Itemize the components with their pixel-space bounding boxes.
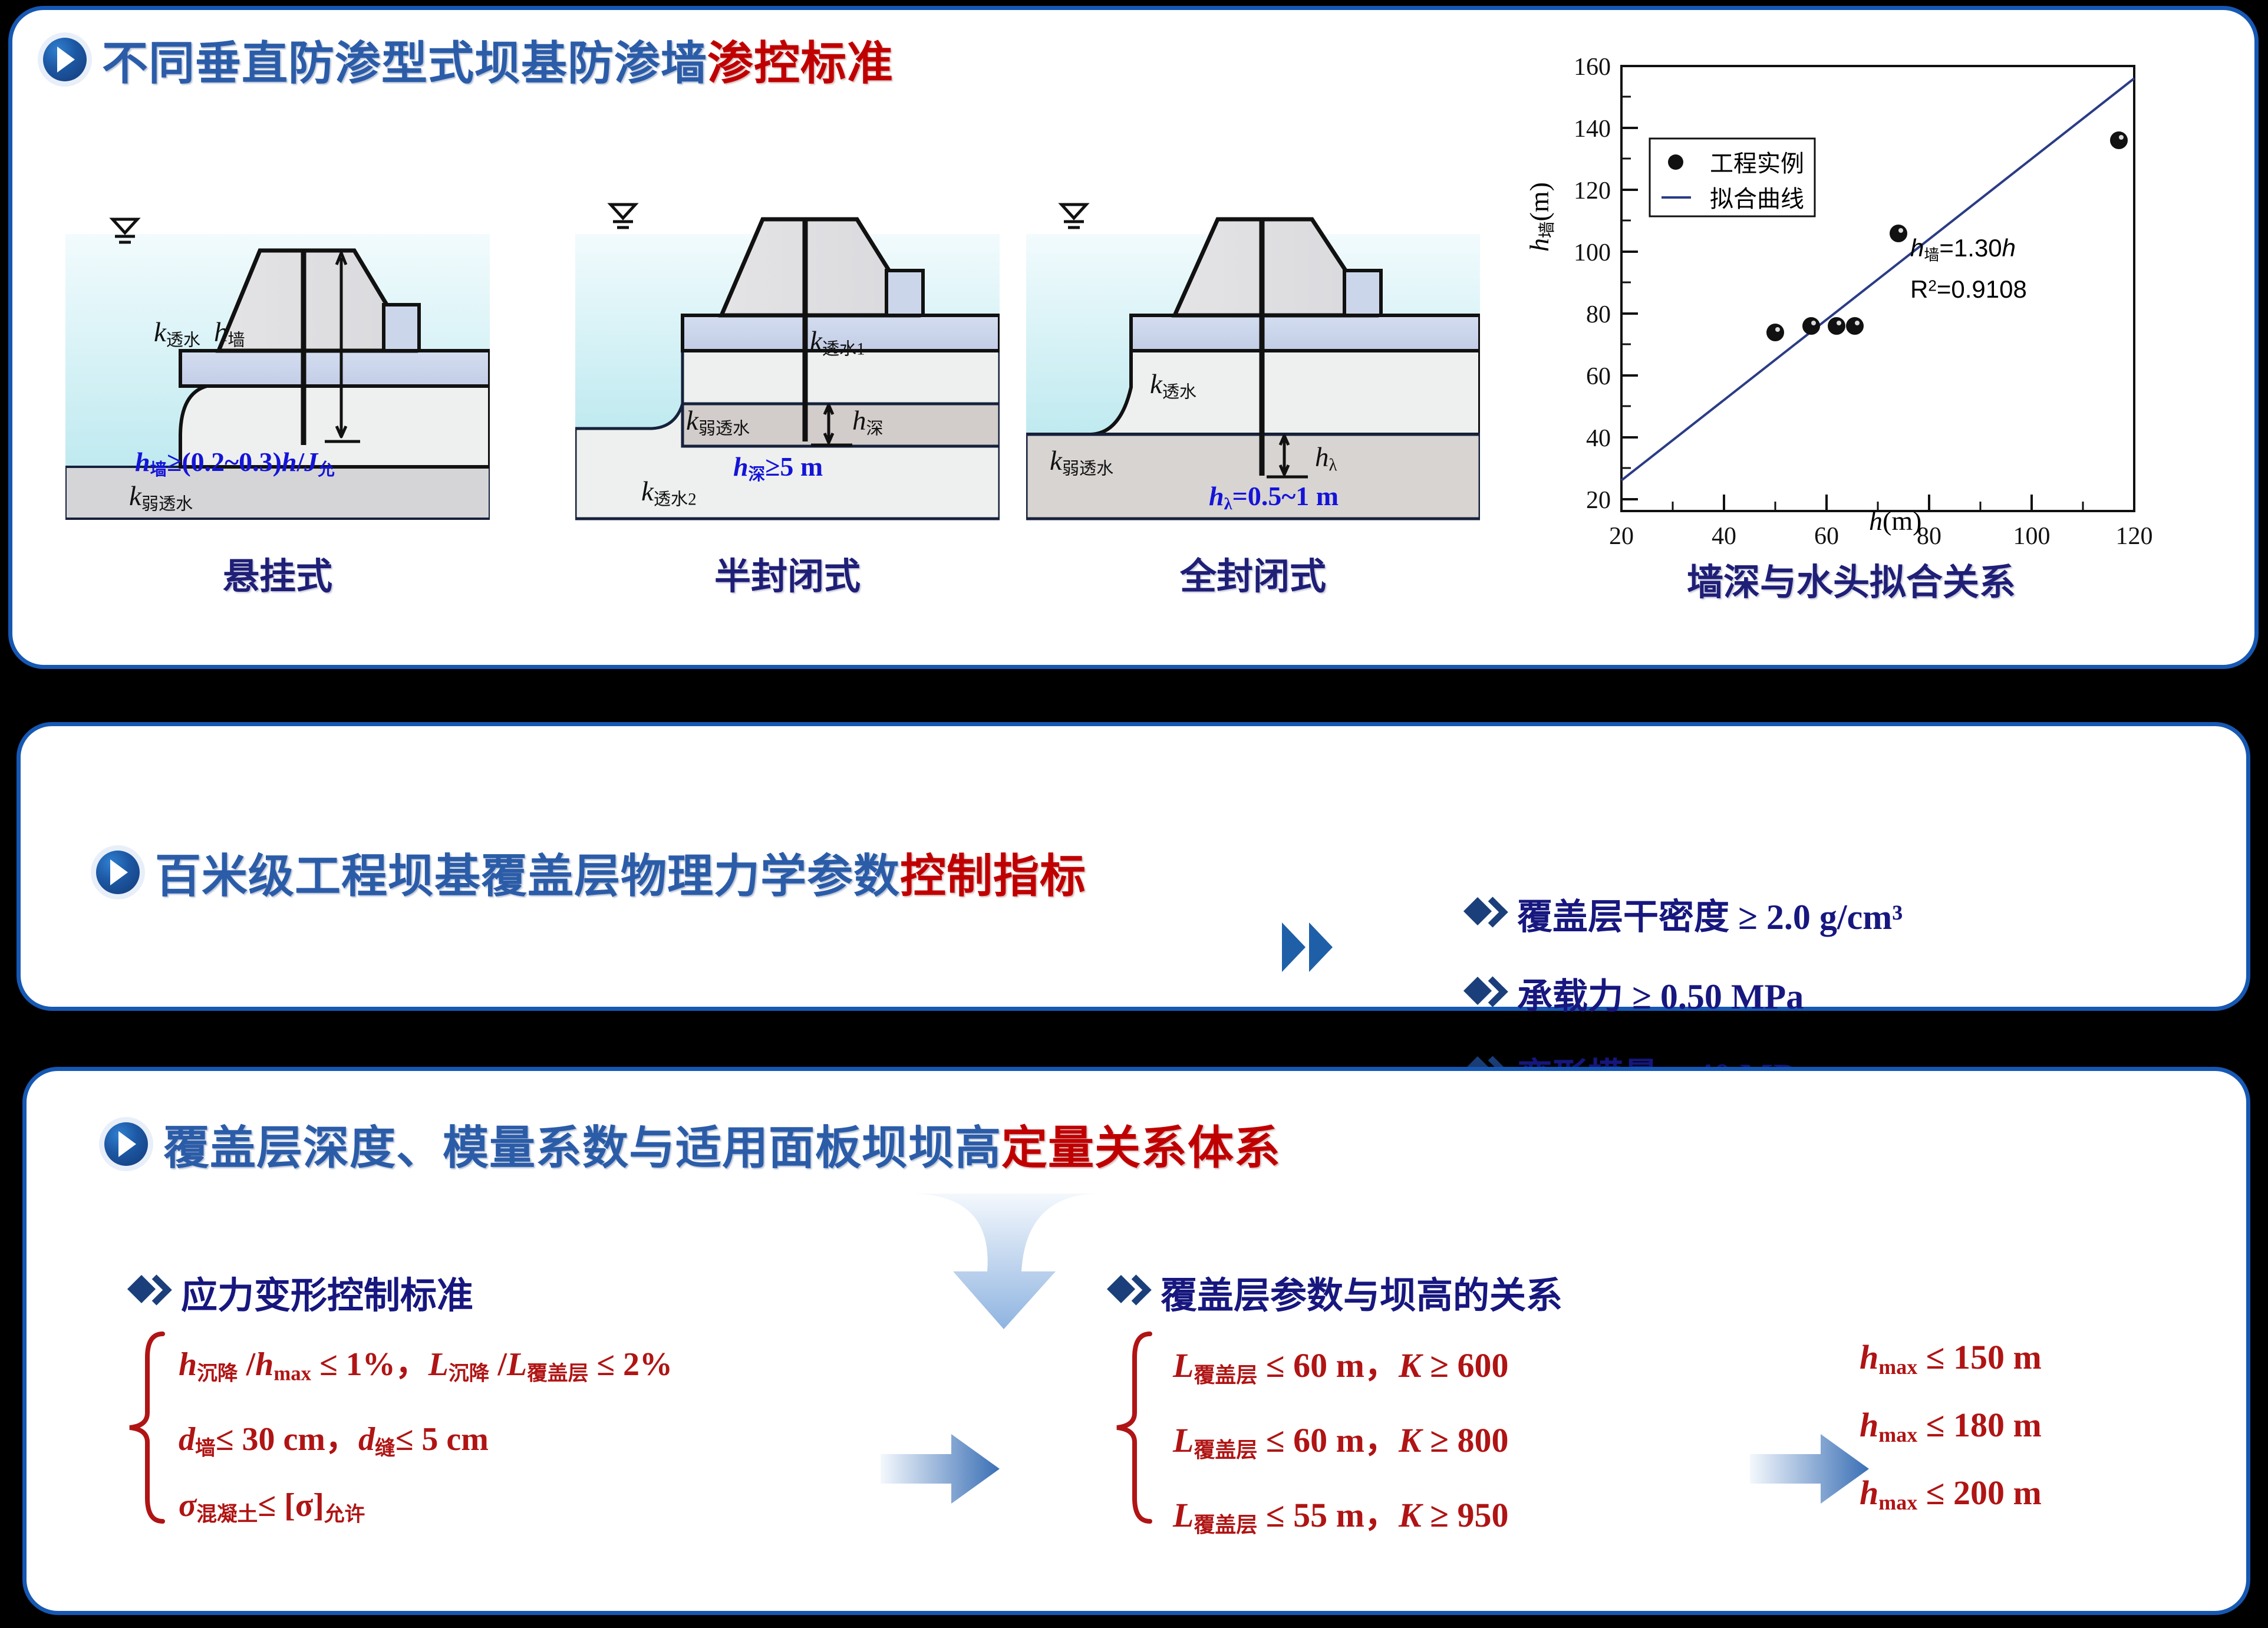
group-right-formulas: hmax ≤ 150 m hmax ≤ 180 m hmax ≤ 200 m [1860, 1337, 2042, 1541]
group-mid-formulas: L覆盖层 ≤ 60 m，K ≥ 600 L覆盖层 ≤ 60 m，K ≥ 800 … [1173, 1337, 1508, 1562]
param-item-density: 覆盖层干密度 ≥ 2.0 g/cm³ [1468, 888, 1903, 940]
svg-text:40: 40 [1586, 425, 1611, 452]
label-h-deep: h深 [852, 405, 884, 439]
svg-text:120: 120 [1574, 177, 1611, 205]
diagram-caption-2: 半封闭式 [575, 546, 1000, 599]
panel-seepage-control: 不同垂直防渗型式坝基防渗墙渗控标准 [8, 6, 2259, 669]
diamond-chevron-icon [1111, 1276, 1144, 1309]
bot-heading-main: 覆盖层深度、模量系数与适用面板坝坝高 [163, 1111, 1001, 1177]
label-k-permeable-1: k透水 [154, 317, 200, 351]
curved-down-arrow-icon [905, 1189, 1105, 1339]
chevron-circle-icon [104, 1122, 148, 1166]
mid-heading-accent: 控制指标 [900, 839, 1086, 905]
svg-text:100: 100 [1574, 239, 1611, 266]
param-label-density: 覆盖层干密度 ≥ 2.0 g/cm³ [1517, 888, 1903, 940]
svg-text:120: 120 [2116, 523, 2153, 546]
chart-ylabel: h墙(m) [1524, 182, 1558, 252]
legend-label-examples: 工程实例 [1710, 144, 1804, 179]
diagram-caption-4: 墙深与水头拟合关系 [1627, 552, 2075, 605]
label-k-weak-3: k弱透水 [1050, 445, 1113, 479]
formula-coverage-950: L覆盖层 ≤ 55 m，K ≥ 950 [1173, 1487, 1508, 1538]
panel-physical-parameters: 百米级工程坝基覆盖层物理力学参数控制指标 覆盖层干密度 ≥ 2.0 g/cm³ … [17, 722, 2250, 1011]
label-k-permeable-1-2: k透水1 [810, 325, 865, 360]
chevron-circle-icon [43, 38, 87, 81]
formula-wall-joint: d墙≤ 30 cm，d缝≤ 5 cm [179, 1412, 673, 1461]
dam-diagram-suspended: k透水 h墙 h墙≥(0.2~0.3)h/J允 k弱透水 悬挂式 [65, 199, 490, 529]
double-chevron-right-icon [1282, 922, 1336, 972]
group-title-coverage-relation: 覆盖层参数与坝高的关系 [1111, 1266, 1562, 1319]
mid-heading-main: 百米级工程坝基覆盖层物理力学参数 [155, 839, 900, 905]
group-left-title-text: 应力变形控制标准 [181, 1266, 473, 1319]
group-mid-title-text: 覆盖层参数与坝高的关系 [1161, 1266, 1562, 1319]
diamond-chevron-icon [1468, 977, 1501, 1010]
dam-diagram-semi-closed: k透水1 k弱透水 h深 h深≥5 m k透水2 半封闭式 [575, 199, 1000, 529]
heading-accent-text: 渗控标准 [707, 27, 894, 93]
svg-text:160: 160 [1574, 54, 1611, 81]
formula-semi-closed: h深≥5 m [733, 451, 823, 485]
dam-diagram-fully-closed: k透水 k弱透水 hλ hλ=0.5~1 m 全封闭式 [1026, 199, 1480, 529]
right-arrow-icon [1748, 1431, 1871, 1510]
svg-text:80: 80 [1586, 301, 1611, 328]
mid-panel-heading: 百米级工程坝基覆盖层物理力学参数控制指标 [96, 839, 1086, 905]
svg-text:60: 60 [1814, 523, 1839, 546]
formula-hmax-150: hmax ≤ 150 m [1860, 1337, 2042, 1379]
heading-main-text: 不同垂直防渗型式坝基防渗墙 [102, 27, 707, 93]
group-left-formulas: h沉降 /hmax ≤ 1%，L沉降 /L覆盖层 ≤ 2% d墙≤ 30 cm，… [179, 1337, 673, 1553]
formula-settlement-ratio: h沉降 /hmax ≤ 1%，L沉降 /L覆盖层 ≤ 2% [179, 1337, 673, 1386]
formula-concrete-stress: σ混凝土≤ [σ]允许 [179, 1487, 673, 1527]
formula-hmax-200: hmax ≤ 200 m [1860, 1473, 2042, 1515]
wall-depth-head-chart: 160 140 120 100 80 60 40 20 20 40 60 80 … [1533, 39, 2193, 549]
label-h-lambda: hλ [1315, 441, 1337, 475]
brace-left [124, 1330, 171, 1528]
param-label-bearing: 承载力 ≥ 0.50 MPa [1517, 968, 1804, 1019]
group-title-stress-deformation: 应力变形控制标准 [131, 1266, 473, 1319]
formula-coverage-600: L覆盖层 ≤ 60 m，K ≥ 600 [1173, 1337, 1508, 1389]
scatter-chart-svg: 160 140 120 100 80 60 40 20 20 40 60 80 … [1533, 39, 2193, 546]
formula-suspended: h墙≥(0.2~0.3)h/J允 [135, 446, 335, 480]
brace-mid [1111, 1330, 1158, 1528]
svg-text:140: 140 [1574, 116, 1611, 143]
diamond-chevron-icon [1468, 898, 1501, 931]
panel-quantitative-relations: 覆盖层深度、模量系数与适用面板坝坝高定量关系体系 应力变形控制标准 h沉降 /h… [22, 1067, 2250, 1615]
right-arrow-icon [878, 1431, 1002, 1510]
diamond-chevron-icon [131, 1276, 164, 1309]
bot-heading-accent: 定量关系体系 [1001, 1111, 1281, 1177]
label-k-weak-2: k弱透水 [686, 405, 750, 439]
svg-text:60: 60 [1586, 363, 1611, 390]
water-level-icon [611, 205, 635, 228]
top-panel-heading: 不同垂直防渗型式坝基防渗墙渗控标准 [43, 27, 894, 93]
chart-r-squared: R2=0.9108 [1910, 275, 2027, 304]
formula-fully-closed: hλ=0.5~1 m [1209, 480, 1339, 514]
label-h-wall-1: h墙 [214, 317, 245, 351]
diagram-caption-3: 全封闭式 [1041, 546, 1465, 599]
formula-coverage-800: L覆盖层 ≤ 60 m，K ≥ 800 [1173, 1412, 1508, 1464]
chart-xlabel: h(m) [1869, 505, 1921, 536]
label-k-permeable-2-2: k透水2 [641, 476, 697, 510]
legend-label-fit: 拟合曲线 [1710, 180, 1804, 214]
slide-root: 不同垂直防渗型式坝基防渗墙渗控标准 [0, 0, 2268, 1628]
svg-text:20: 20 [1586, 487, 1611, 514]
svg-text:20: 20 [1609, 523, 1634, 546]
chart-equation: h墙=1.30h [1910, 234, 2016, 265]
formula-hmax-180: hmax ≤ 180 m [1860, 1405, 2042, 1447]
chevron-circle-icon [96, 851, 140, 894]
diagram-caption-1: 悬挂式 [65, 546, 490, 599]
svg-text:40: 40 [1712, 523, 1736, 546]
param-item-bearing: 承载力 ≥ 0.50 MPa [1468, 968, 1804, 1019]
bot-panel-heading: 覆盖层深度、模量系数与适用面板坝坝高定量关系体系 [104, 1111, 1281, 1177]
svg-text:100: 100 [2013, 523, 2051, 546]
label-k-weak-1: k弱透水 [129, 480, 193, 515]
water-level-icon [1062, 205, 1086, 228]
label-k-permeable-3: k透水 [1150, 368, 1196, 403]
